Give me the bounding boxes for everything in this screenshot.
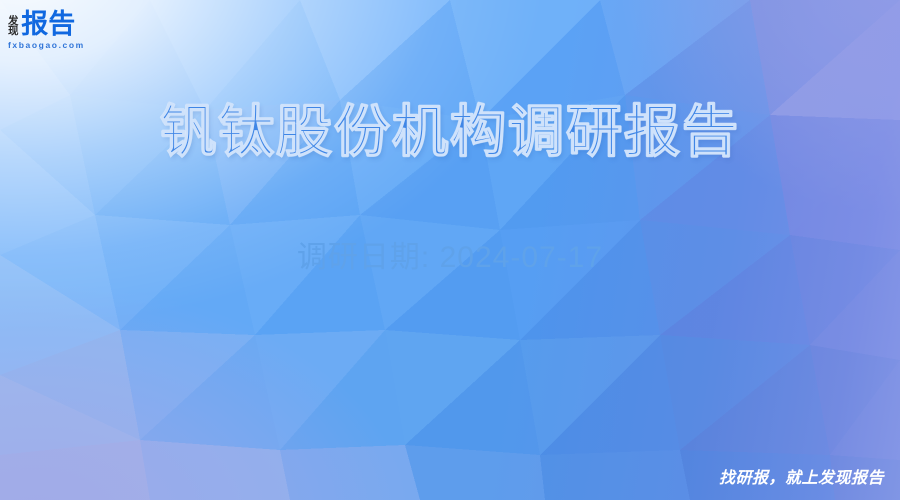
logo-row: 发 现 报告 [8,8,128,38]
logo-mark-char-2: 现 [8,26,18,37]
logo-mark-stacked: 发 现 [8,16,18,38]
report-cover: 发 现 报告 fxbaogao.com 钒钛股份机构调研报告 调研日期: 202… [0,0,900,500]
logo-wordmark: 报告 [21,11,75,38]
page-title: 钒钛股份机构调研报告 [0,87,900,168]
brand-tagline: 找研报，就上发现报告 [719,464,884,488]
brand-logo[interactable]: 发 现 报告 fxbaogao.com [8,8,128,54]
logo-url: fxbaogao.com [8,40,128,50]
survey-date-subtitle: 调研日期: 2024-07-17 [0,232,900,276]
